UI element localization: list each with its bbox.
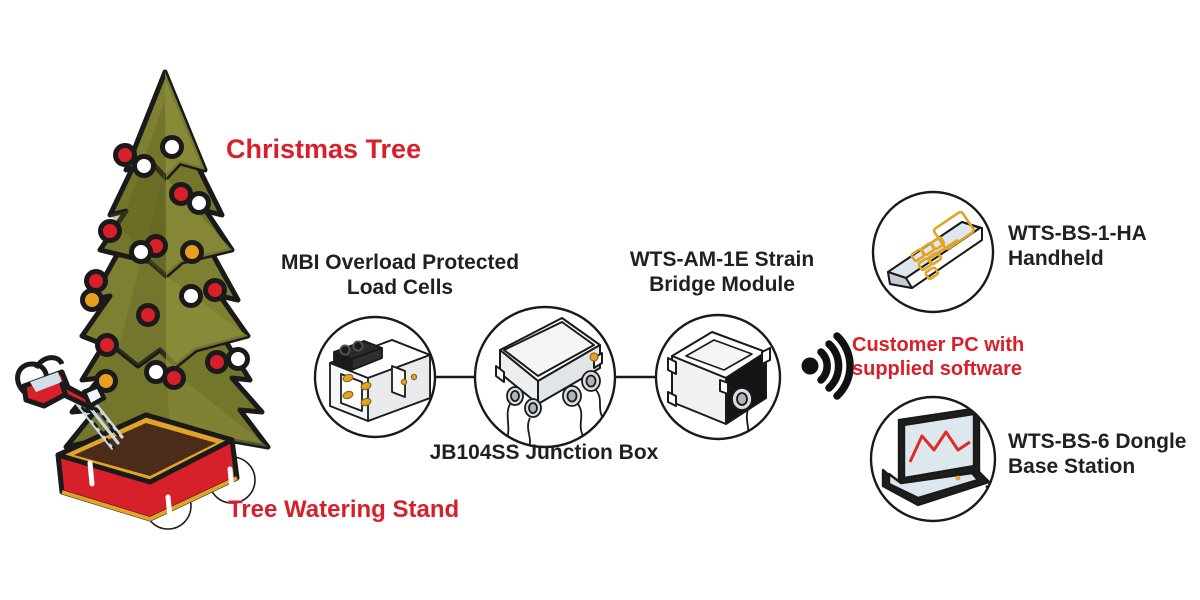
- dongle-base-station-node[interactable]: [871, 397, 995, 521]
- label-customer-pc: Customer PC with supplied software: [852, 334, 1060, 381]
- handheld-node[interactable]: [873, 192, 993, 312]
- bridge-module-node[interactable]: [656, 315, 780, 444]
- tree-ornament: [190, 194, 209, 213]
- tree-ornament: [135, 157, 154, 176]
- label-junction-box: JB104SS Junction Box: [400, 441, 688, 466]
- tree-ornament: [98, 336, 117, 355]
- tree-ornament: [163, 138, 182, 157]
- label-handheld: WTS-BS-1-HA Handheld: [1008, 222, 1198, 272]
- christmas-tree-illustration: [66, 72, 268, 470]
- tree-ornament: [165, 369, 184, 388]
- tree-ornament: [182, 287, 201, 306]
- label-strain-bridge-module: WTS-AM-1E Strain Bridge Module: [606, 248, 838, 298]
- load-cell-node[interactable]: [315, 317, 435, 437]
- tree-ornament: [83, 291, 102, 310]
- tree-ornament: [101, 222, 120, 241]
- bridge-module-connector: [732, 388, 752, 410]
- label-load-cells: MBI Overload Protected Load Cells: [248, 251, 552, 301]
- diagram-canvas: Christmas Tree Tree Watering Stand MBI O…: [0, 0, 1200, 600]
- diagram-artwork: [0, 0, 1200, 600]
- junction-box-node[interactable]: [475, 292, 615, 450]
- tree-ornament: [139, 306, 158, 325]
- label-dongle-base-station: WTS-BS-6 Dongle Base Station: [1008, 430, 1200, 480]
- tree-ornament: [87, 272, 106, 291]
- tree-ornament: [208, 353, 227, 372]
- wifi-signal-icon: [802, 336, 851, 396]
- tree-ornament: [206, 281, 225, 300]
- tree-ornament: [132, 243, 151, 262]
- tree-ornament: [229, 350, 248, 369]
- tree-ornament: [183, 243, 202, 262]
- tree-ornament: [116, 146, 135, 165]
- label-tree-watering-stand: Tree Watering Stand: [228, 496, 459, 524]
- label-christmas-tree: Christmas Tree: [226, 134, 421, 166]
